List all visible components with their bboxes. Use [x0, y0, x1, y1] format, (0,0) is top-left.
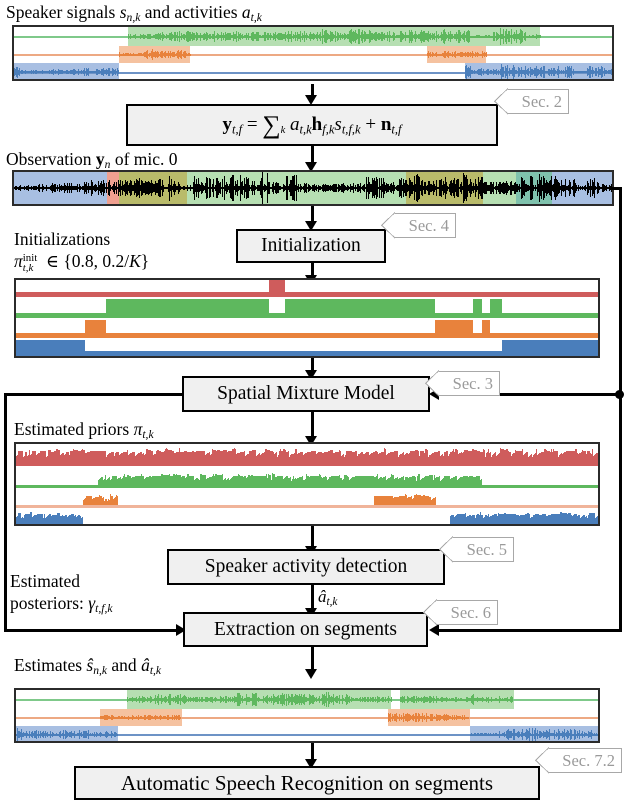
init-axis-green	[16, 313, 598, 318]
section-tag-sec2: Sec. 2	[507, 89, 569, 114]
asr-label: Automatic Speech Recognition on segments	[121, 771, 493, 796]
initialization-box[interactable]: Initialization	[236, 229, 386, 263]
arrow-sad-to-extraction-line	[311, 585, 314, 610]
init-track-red	[16, 280, 598, 299]
speaker-activity-detection-box[interactable]: Speaker activity detection	[167, 549, 445, 585]
est-waveform-orange-1	[100, 709, 181, 726]
est-track-green	[16, 690, 598, 709]
estimated-priors-label: Estimated priors πt,k	[14, 420, 154, 441]
figure-canvas: Speaker signals sn,k and activities at,k…	[0, 0, 626, 802]
section-tag-sec6: Sec. 6	[436, 600, 498, 625]
init-track-blue	[16, 340, 598, 357]
est-track-blue	[16, 726, 598, 743]
priors-track-green	[16, 466, 598, 488]
priors-track-orange	[16, 488, 598, 508]
feedback-to-extraction-line	[437, 629, 619, 632]
track-orange	[14, 46, 612, 63]
spatial-mixture-model-label: Spatial Mixture Model	[217, 383, 395, 405]
waveform-blue-2	[465, 63, 612, 81]
initialization-box-label: Initialization	[261, 235, 361, 257]
priors-track-red	[16, 444, 598, 466]
section-tag-sec5: Sec. 5	[452, 537, 514, 562]
waveform-blue-1	[14, 63, 119, 81]
initializations-panel	[14, 278, 600, 358]
estimates-label: Estimates ŝn,k and ât,k	[14, 656, 161, 677]
estimates-panel	[14, 688, 600, 743]
posteriors-left-stub	[4, 393, 184, 396]
initializations-label: Initializations	[14, 230, 110, 248]
extraction-on-segments-box[interactable]: Extraction on segments	[183, 612, 428, 647]
est-track-orange	[16, 709, 598, 726]
est-waveform-green-1	[127, 690, 392, 709]
track-green	[14, 27, 612, 46]
speaker-activity-detection-label: Speaker activity detection	[205, 556, 408, 578]
posteriors-to-extraction-line	[4, 629, 179, 632]
observation-panel	[12, 170, 614, 206]
posteriors-left-vertical	[4, 393, 7, 632]
estimated-posteriors-label-line2: posteriors: γt,f,k	[10, 594, 113, 615]
init-bar-orange-3	[482, 320, 491, 334]
observation-model-equation: yt,f = ∑k at,khf,kst,f,k + nt,f	[126, 104, 498, 146]
estimated-priors-panel	[14, 442, 600, 526]
est-waveform-green-2	[400, 690, 513, 709]
section-tag-sec7-2: Sec. 7.2	[548, 748, 622, 773]
arrow-extraction-to-estimates-line	[311, 647, 314, 671]
priors-track-blue	[16, 508, 598, 524]
observation-label: Observation yn of mic. 0	[6, 150, 178, 171]
est-waveform-orange-2	[388, 709, 469, 726]
init-bar-orange-1	[85, 320, 107, 334]
arrow-smm-to-priors-line	[311, 412, 314, 438]
waveform-orange-2	[427, 46, 487, 63]
track-blue	[14, 63, 612, 81]
init-bar-green-1	[106, 299, 269, 314]
init-bar-green-4	[490, 299, 502, 314]
estimated-posteriors-label-line1: Estimated	[10, 572, 80, 590]
section-tag-sec3: Sec. 3	[438, 371, 500, 396]
init-axis-red	[16, 292, 598, 297]
arrow-extraction-to-estimates-head	[305, 669, 317, 679]
axis-orange	[14, 54, 612, 56]
feedback-observation-vertical	[619, 187, 622, 632]
init-track-orange	[16, 320, 598, 340]
equation-text: yt,f = ∑k at,khf,kst,f,k + nt,f	[222, 110, 401, 140]
init-axis-blue	[16, 351, 598, 356]
extraction-on-segments-label: Extraction on segments	[214, 619, 397, 641]
spatial-mixture-model-box[interactable]: Spatial Mixture Model	[182, 376, 430, 412]
section-tag-sec4: Sec. 4	[394, 213, 456, 238]
a-hat-label: ât,k	[318, 588, 337, 609]
est-waveform-blue-1	[16, 726, 118, 743]
asr-box[interactable]: Automatic Speech Recognition on segments	[74, 766, 540, 800]
speaker-signals-panel	[12, 25, 614, 81]
init-axis-orange	[16, 333, 598, 338]
waveform-observation	[14, 172, 612, 204]
init-bar-green-2	[285, 299, 435, 314]
waveform-green	[128, 27, 541, 46]
initializations-formula: π initt,k ∈ {0.8, 0.2/K}	[14, 252, 149, 273]
arrow-priors-to-sad-line	[311, 526, 314, 548]
init-track-green	[16, 299, 598, 320]
est-waveform-blue-2	[470, 726, 598, 743]
priors-curve-blue	[16, 508, 598, 524]
init-bar-green-3	[473, 299, 482, 314]
waveform-orange-1	[119, 46, 191, 63]
init-bar-orange-2	[435, 320, 473, 334]
speaker-signals-label: Speaker signals sn,k and activities at,k	[6, 3, 262, 24]
